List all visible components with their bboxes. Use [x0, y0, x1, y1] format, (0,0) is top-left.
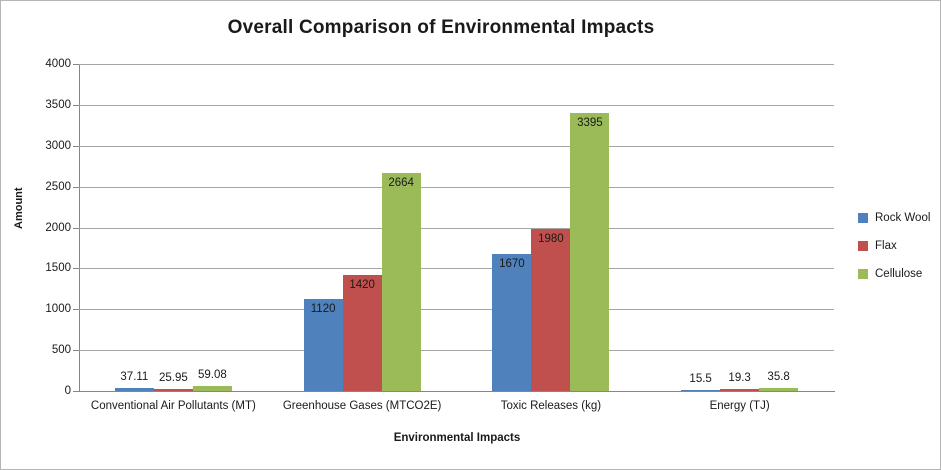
y-axis-tick-mark: [73, 268, 79, 269]
bar-slot: 25.95: [154, 64, 193, 391]
chart-container: Overall Comparison of Environmental Impa…: [0, 0, 941, 470]
legend-label: Flax: [875, 240, 897, 252]
y-axis-tick-label: 0: [7, 385, 71, 397]
y-axis-tick-label: 3000: [7, 140, 71, 152]
bar-slot: 59.08: [193, 64, 232, 391]
bar[interactable]: 1670: [492, 254, 531, 391]
bar-slot: 1980: [531, 64, 570, 391]
bars-row: 112014202664: [268, 64, 457, 391]
bar-slot: 3395: [570, 64, 609, 391]
bar[interactable]: 1980: [531, 229, 570, 391]
y-axis-tick-mark: [73, 64, 79, 65]
bar-slot: 19.3: [720, 64, 759, 391]
bar-slot: 1120: [304, 64, 343, 391]
legend: Rock WoolFlaxCellulose: [858, 204, 941, 288]
legend-item[interactable]: Flax: [858, 232, 941, 260]
bar-slot: 1420: [343, 64, 382, 391]
legend-swatch-icon: [858, 213, 868, 223]
bar-group: 15.519.335.8Energy (TJ): [645, 64, 834, 391]
bar[interactable]: 2664: [382, 173, 421, 391]
bar[interactable]: 1420: [343, 275, 382, 391]
legend-item[interactable]: Rock Wool: [858, 204, 941, 232]
y-axis-tick-mark: [73, 228, 79, 229]
y-axis-tick-mark: [73, 309, 79, 310]
y-axis-tick-label: 3500: [7, 99, 71, 111]
legend-label: Rock Wool: [875, 212, 930, 224]
bar[interactable]: 37.11: [115, 388, 154, 391]
bar-slot: 15.5: [681, 64, 720, 391]
bar-value-label: 3395: [558, 117, 621, 129]
bar[interactable]: 19.3: [720, 389, 759, 391]
bar[interactable]: 3395: [570, 113, 609, 391]
legend-item[interactable]: Cellulose: [858, 260, 941, 288]
bar-slot: 2664: [382, 64, 421, 391]
bar[interactable]: 59.08: [193, 386, 232, 391]
bar-value-label: 2664: [370, 177, 433, 189]
bar-slot: 1670: [492, 64, 531, 391]
bar-slot: 35.8: [759, 64, 798, 391]
y-axis-tick-label: 1000: [7, 303, 71, 315]
bar[interactable]: 25.95: [154, 389, 193, 391]
bar[interactable]: 15.5: [681, 390, 720, 392]
x-axis-category-label: Energy (TJ): [605, 400, 874, 412]
x-axis-line: [79, 391, 835, 392]
y-axis-tick-mark: [73, 187, 79, 188]
bar-value-label: 59.08: [181, 369, 244, 381]
x-axis-title: Environmental Impacts: [79, 432, 835, 444]
y-axis-tick-mark: [73, 146, 79, 147]
y-axis-tick-label: 2000: [7, 222, 71, 234]
y-axis-tick-label: 4000: [7, 58, 71, 70]
y-axis-tick-mark: [73, 350, 79, 351]
bar-slot: 37.11: [115, 64, 154, 391]
plot-area: 37.1125.9559.08Conventional Air Pollutan…: [79, 64, 834, 391]
legend-label: Cellulose: [875, 268, 922, 280]
bar-group: 112014202664Greenhouse Gases (MTCO2E): [268, 64, 457, 391]
y-axis-tick-mark: [73, 105, 79, 106]
bar-value-label: 35.8: [747, 371, 810, 383]
bars-row: 167019803395: [457, 64, 646, 391]
y-axis-tick-label: 1500: [7, 262, 71, 274]
bars-row: 37.1125.9559.08: [79, 64, 268, 391]
chart-title: Overall Comparison of Environmental Impa…: [1, 17, 881, 39]
bar[interactable]: 35.8: [759, 388, 798, 391]
legend-swatch-icon: [858, 269, 868, 279]
y-axis-tick-mark: [73, 391, 79, 392]
legend-swatch-icon: [858, 241, 868, 251]
bar-group: 37.1125.9559.08Conventional Air Pollutan…: [79, 64, 268, 391]
bars-row: 15.519.335.8: [645, 64, 834, 391]
y-axis-tick-label: 2500: [7, 181, 71, 193]
bar-group: 167019803395Toxic Releases (kg): [457, 64, 646, 391]
y-axis-tick-label: 500: [7, 344, 71, 356]
bar[interactable]: 1120: [304, 299, 343, 391]
